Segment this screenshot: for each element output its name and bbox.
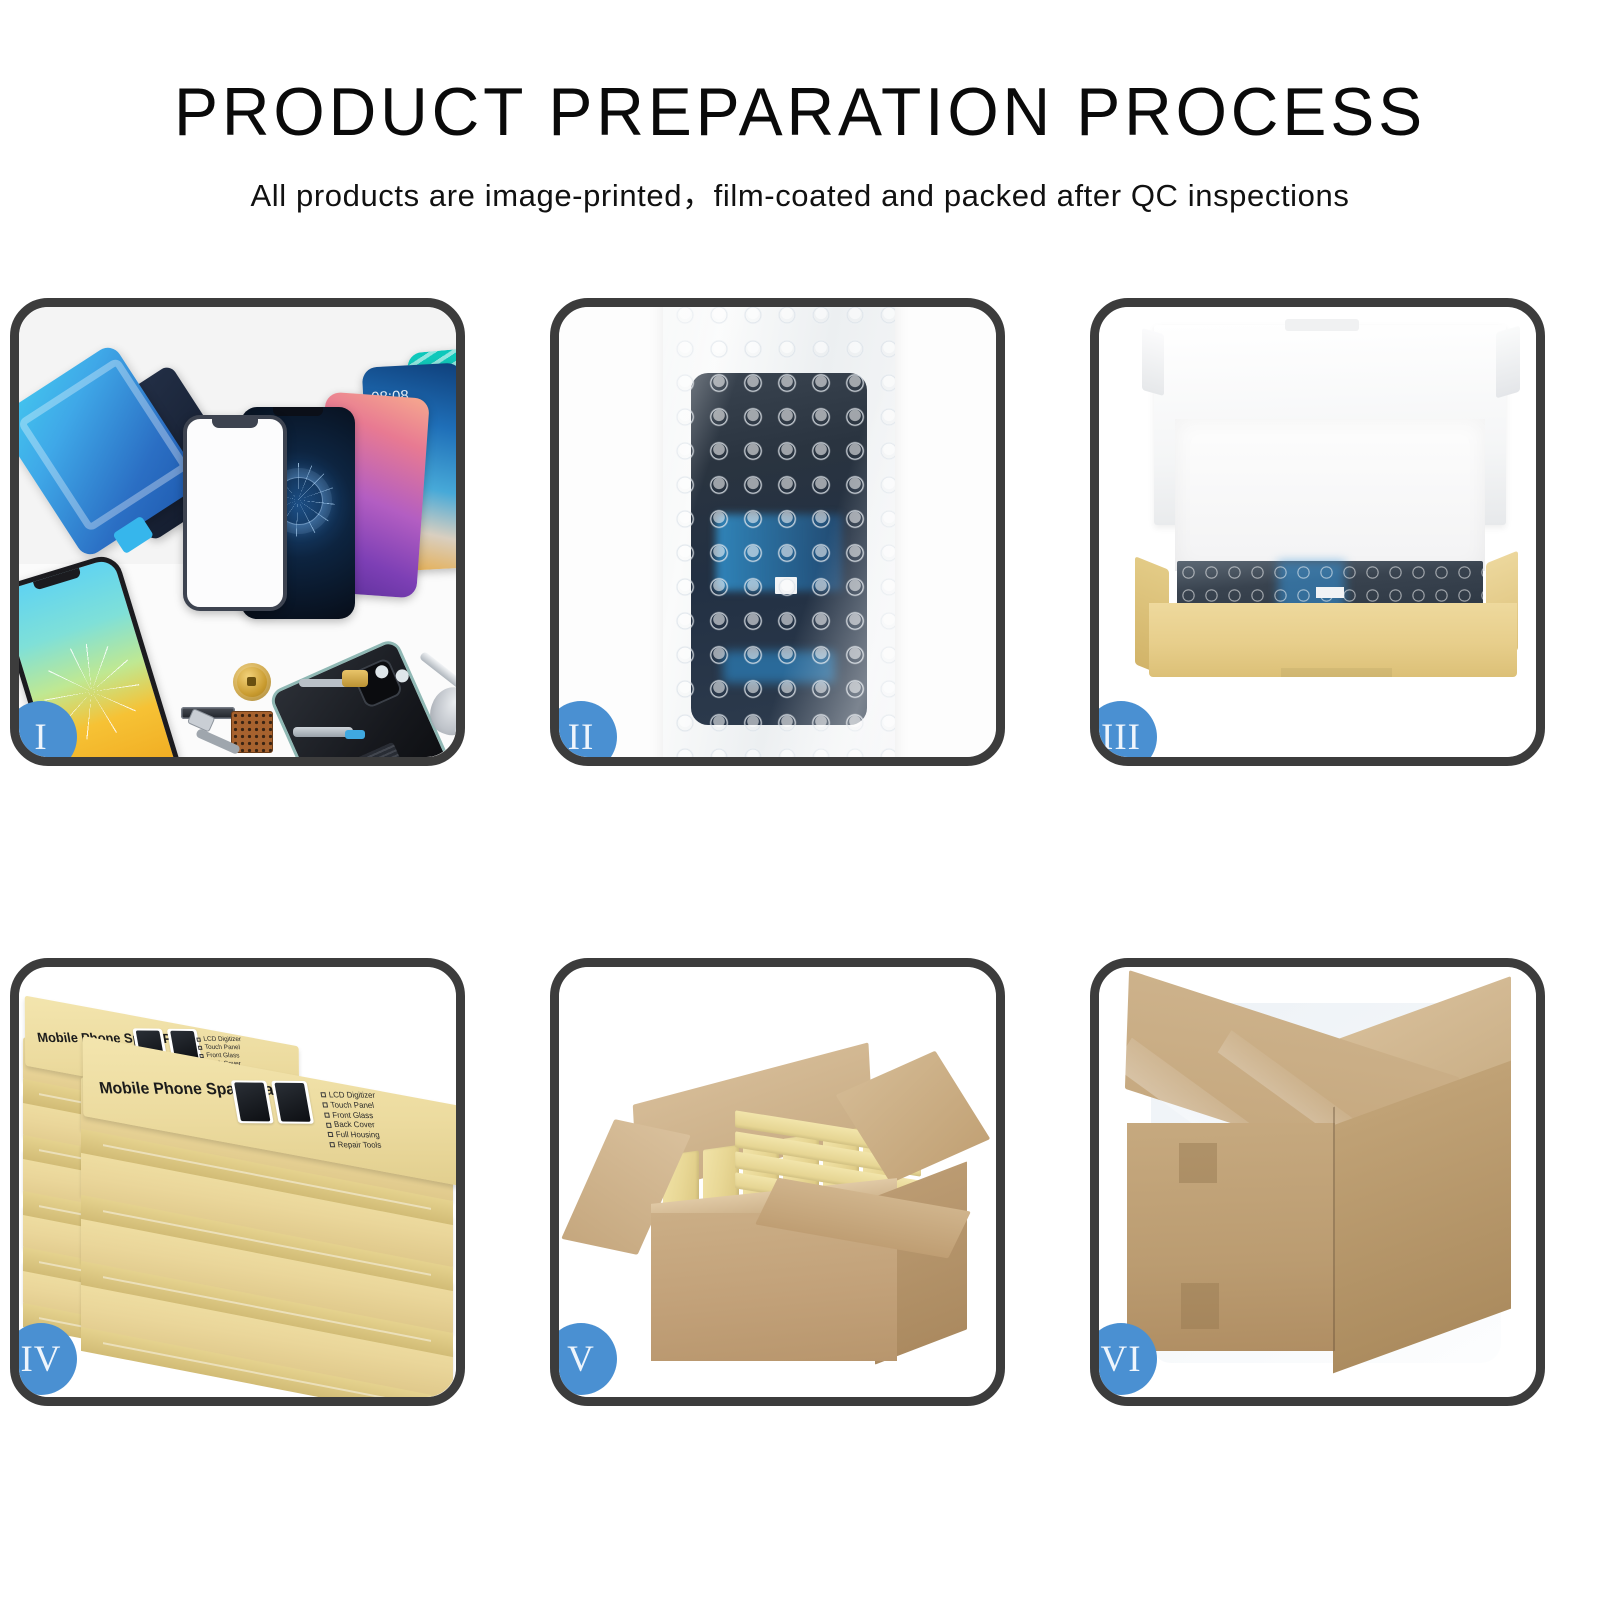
mailer-box-front-wall bbox=[1149, 603, 1517, 677]
checkbox-icon bbox=[326, 1122, 332, 1127]
page-title: PRODUCT PREPARATION PROCESS bbox=[24, 78, 1576, 146]
checkbox-icon bbox=[197, 1037, 202, 1041]
checklist-item: Front Glass bbox=[324, 1110, 380, 1120]
checkbox-icon bbox=[322, 1102, 328, 1107]
step-image-6 bbox=[1099, 967, 1536, 1397]
step-cell-1: 08:08 bbox=[0, 290, 530, 770]
checkbox-icon bbox=[328, 1132, 334, 1137]
flex-cable-part-2 bbox=[299, 679, 353, 687]
grid-row-spacer bbox=[0, 770, 1600, 950]
step-panel-4[interactable]: Mobile Phone Spare Parts LCD Digitizer T… bbox=[10, 958, 465, 1406]
checklist-item: Touch Panel bbox=[322, 1100, 378, 1110]
checkbox-icon bbox=[320, 1092, 326, 1097]
step-cell-6: VI bbox=[1070, 950, 1600, 1430]
box-label-checklist: LCD Digitizer Touch Panel Front Glass Ba… bbox=[320, 1090, 385, 1150]
step-panel-1[interactable]: 08:08 bbox=[10, 298, 465, 766]
box-label-thumbnails bbox=[231, 1080, 314, 1123]
phone-notch bbox=[273, 407, 323, 416]
checklist-item: Touch Panel bbox=[198, 1043, 244, 1051]
foam-insert bbox=[1175, 419, 1485, 571]
step-panel-5[interactable]: V bbox=[550, 958, 1005, 1406]
page-header: PRODUCT PREPARATION PROCESS All products… bbox=[0, 0, 1600, 215]
checklist-item: LCD Digitizer bbox=[320, 1090, 376, 1100]
step-cell-5: V bbox=[530, 950, 1070, 1430]
step-image-5 bbox=[559, 967, 996, 1397]
step-image-4: Mobile Phone Spare Parts LCD Digitizer T… bbox=[19, 967, 456, 1397]
taptic-engine-part bbox=[233, 663, 271, 701]
mailer-box-lid-tab bbox=[1285, 319, 1359, 331]
retail-box-stack: Mobile Phone Spare Parts LCD Digitizer T… bbox=[19, 967, 456, 1397]
phone-thumbnail bbox=[271, 1080, 314, 1123]
carton-tape-tab-top bbox=[1179, 1143, 1217, 1183]
sealed-carton-front-wall bbox=[1127, 1123, 1335, 1351]
checkbox-icon bbox=[324, 1112, 330, 1117]
step-cell-2: II bbox=[530, 290, 1070, 770]
step-image-3 bbox=[1099, 307, 1536, 757]
checkbox-icon bbox=[198, 1045, 203, 1049]
carton-tape-tab-bottom bbox=[1181, 1283, 1219, 1329]
bubble-wrap-bag bbox=[663, 307, 895, 757]
step-cell-3: III bbox=[1070, 290, 1600, 770]
battery-part bbox=[322, 742, 405, 757]
checkbox-icon bbox=[329, 1142, 335, 1147]
checklist-item: Full Housing bbox=[327, 1130, 383, 1140]
step-panel-6[interactable]: VI bbox=[1090, 958, 1545, 1406]
step-panel-2[interactable]: II bbox=[550, 298, 1005, 766]
page-subtitle: All products are image-printed，film-coat… bbox=[0, 170, 1600, 215]
step-panel-3[interactable]: III bbox=[1090, 298, 1545, 766]
checklist-item: LCD Digitizer bbox=[196, 1035, 242, 1043]
carton-corner-seam bbox=[1333, 1107, 1335, 1352]
product-label-sticker bbox=[1316, 587, 1344, 598]
step-cell-4: Mobile Phone Spare Parts LCD Digitizer T… bbox=[0, 950, 530, 1430]
plastic-sheen bbox=[663, 307, 895, 757]
checklist-item: Repair Tools bbox=[329, 1140, 385, 1150]
flex-cable-part-3 bbox=[293, 727, 353, 737]
checklist-item: Back Cover bbox=[325, 1120, 381, 1130]
process-steps-grid: 08:08 bbox=[0, 290, 1600, 1540]
step-image-1: 08:08 bbox=[19, 307, 456, 757]
phone-thumbnail bbox=[231, 1080, 274, 1123]
step-image-2 bbox=[559, 307, 996, 757]
phone-glass-cover bbox=[183, 415, 287, 611]
